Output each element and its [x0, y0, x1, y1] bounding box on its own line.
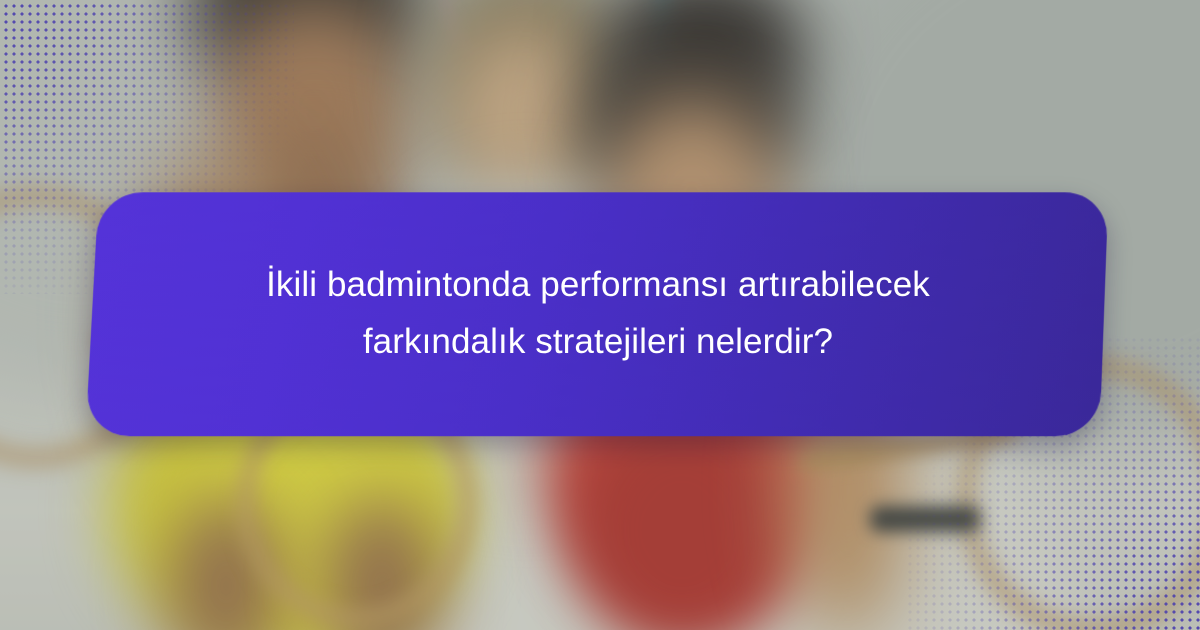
- question-card-content: İkili badmintonda performansı artırabile…: [92, 192, 1104, 436]
- social-card-canvas: İkili badmintonda performansı artırabile…: [0, 0, 1200, 630]
- question-card: İkili badmintonda performansı artırabile…: [92, 192, 1104, 436]
- page-title: İkili badmintonda performansı artırabile…: [208, 257, 988, 370]
